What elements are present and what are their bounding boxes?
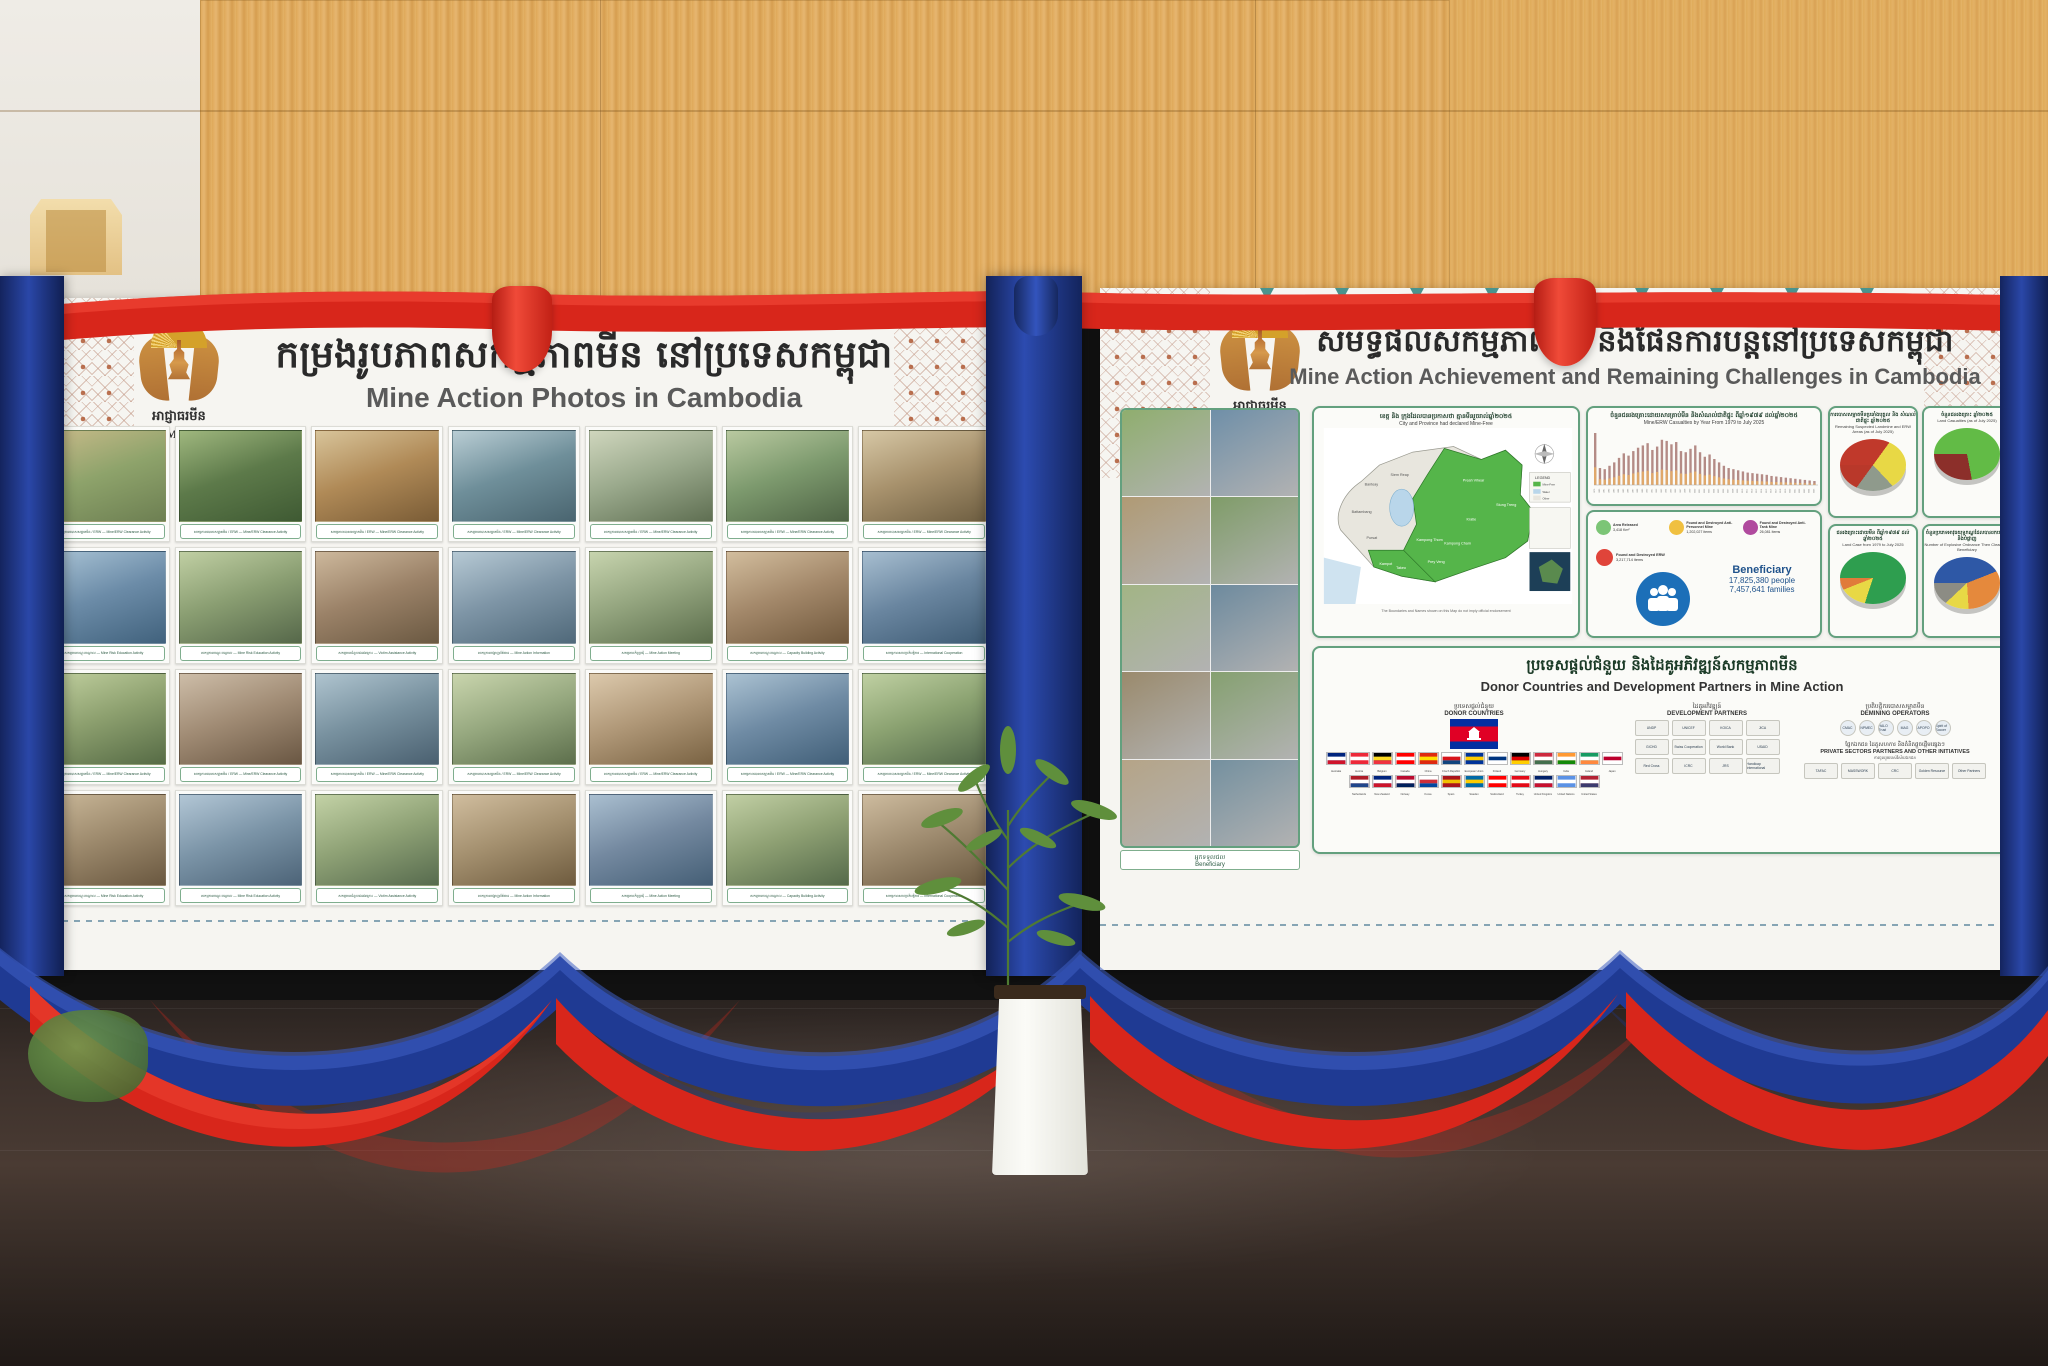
partner-logo-golden-resource[interactable]: Golden Resource [1915,763,1949,779]
photo-image [726,794,850,886]
pot-soil [994,985,1086,999]
photo-image [452,551,576,643]
svg-text:Siem Reap: Siem Reap [1391,473,1409,477]
photo-image [862,430,986,522]
donor-flag-india[interactable]: India [1556,752,1577,773]
donor-flag-united-states[interactable]: United States [1579,775,1600,796]
photo-caption: សកម្មភាពបោសសម្អាតមីន / ERW — Mine/ERW Cl… [863,524,985,539]
photo-card[interactable]: សកម្មភាពបោសសម្អាតមីន / ERW — Mine/ERW Cl… [311,426,443,542]
photo-image [179,673,303,765]
partner-logo-usaid[interactable]: USAID [1746,739,1780,755]
red-knot-left [492,286,552,372]
beneficiary-headline: Beneficiary [1706,564,1818,576]
svg-text:2005: 2005 [1718,488,1720,493]
photo-caption: សកម្មភាពបោសសម្អាតមីន / ERW — Mine/ERW Cl… [180,524,302,539]
casualty-title-khmer: ចំនួនជនរងគ្រោះដោយសារគ្រាប់មីន និងសំណល់ជា… [1588,412,1820,420]
photo-image [452,673,576,765]
wood-seam-horizontal [0,110,2048,112]
photo-image [726,430,850,522]
donor-title-english: Donor Countries and Development Partners… [1314,679,2010,694]
donor-flag-japan[interactable]: Japan [1602,752,1623,773]
photo-image [589,673,713,765]
collage-caption: អ្នកទទួលផល Beneficiary [1120,850,1300,870]
svg-text:2013: 2013 [1756,488,1758,493]
red-knot-right [1534,278,1596,366]
scallop [226,298,298,316]
collage-photo[interactable] [1211,672,1299,758]
photo-card[interactable]: សកម្មភាពកិច្ចប្រជុំ — Mine Action Meetin… [585,790,717,906]
right-banner: អាជ្ញាធរមីន C.M.A.A សមិទ្ធផលសកម្មភាពមីន … [1100,288,2034,970]
svg-text:2025: 2025 [1813,488,1815,493]
collage-photo[interactable] [1122,497,1210,583]
dev-partners-heading-english: DEVELOPMENT PARTNERS [1630,711,1784,717]
donor-flag-belgium[interactable]: Belgium [1372,752,1393,773]
achievement-stats-card: Area Released3,418 Km²Found and Destroye… [1586,510,1822,638]
wall-sconce-inner [46,210,106,272]
pie-1-title-khmer: ការបោសសម្អាតមីនប្រឆាំងបុគ្គល និង សំណល់ជា… [1830,412,1916,424]
photo-card[interactable]: សកម្មភាពបង្ហាញព័ត៌មាន — Mine Action Info… [448,547,580,663]
stat-at-mine-icon: Found and Destroyed Anti-Tank Mine26,081… [1743,520,1812,535]
donor-flag-czech-republic[interactable]: Czech Republic [1441,752,1462,773]
svg-text:1992: 1992 [1656,488,1658,493]
svg-text:1997: 1997 [1680,488,1682,493]
photo-caption: សកម្មភាពបោសសម្អាតមីន / ERW — Mine/ERW Cl… [453,524,575,539]
photo-card[interactable]: សកម្មភាពបណ្ដុះបណ្ដាល — Capacity Building… [722,547,854,663]
scallop [586,298,658,316]
donor-countries-heading-english: DONOR COUNTRIES [1324,711,1624,717]
blue-drape-far-right [2000,276,2048,976]
photo-caption: សកម្មភាពបង្ហាញព័ត៌មាន — Mine Action Info… [453,646,575,661]
plant-pot [992,985,1088,1175]
scallop [1305,288,1380,306]
donor-flag-united-nations[interactable]: United Nations [1556,775,1577,796]
left-banner-title-khmer: កម្រងរូបភាពសកម្មភាពមីន នៅប្រទេសកម្ពុជា [164,332,1004,386]
partner-logo-undp[interactable]: UNDP [1635,720,1669,736]
partner-logo-icrc[interactable]: ICRC [1672,758,1706,774]
donor-flag-germany[interactable]: Germany [1510,752,1531,773]
photo-card[interactable]: សកម្មភាពបណ្ដុះបណ្ដាល — Capacity Building… [722,790,854,906]
pie-chart-3 [1840,552,1906,604]
cambodia-flag-icon [1450,719,1498,749]
photo-image [726,551,850,643]
svg-text:Battambang: Battambang [1352,510,1372,514]
partner-logo-unicef[interactable]: UNICEF [1672,720,1706,736]
pie-4-title-khmer: ចំនួនប្រភេទអាវុធយុទ្ធភណ្ឌដែលបានរកឃើញ និង… [1924,530,2010,542]
partner-logo-tafac[interactable]: TAFAC [1804,763,1838,779]
svg-text:1994: 1994 [1666,488,1668,493]
svg-text:2002: 2002 [1704,488,1706,493]
svg-text:Kampot: Kampot [1379,562,1392,566]
demining-operators-group: ប្រតិបត្តិករបោសសម្អាតមីន DEMINING OPERAT… [1790,702,2000,779]
svg-text:1981: 1981 [1604,488,1606,493]
mine-free-map-card: ខេត្ត និង ក្រុងដែលបានប្រកាសថា គ្មានមីនរួ… [1312,406,1580,638]
bottom-pattern-row-right [1100,922,2034,956]
right-banner-title-english: Mine Action Achievement and Remaining Ch… [1250,364,2020,390]
pie-card-2: ចំនួនជនរងគ្រោះ ឆ្នាំ២០២៥ Land Casualties… [1922,406,2012,518]
svg-text:2007: 2007 [1728,488,1730,493]
svg-text:2017: 2017 [1775,488,1777,493]
photo-image [726,673,850,765]
photo-caption: សកម្មភាពបោសសម្អាតមីន / ERW — Mine/ERW Cl… [453,767,575,782]
left-banner-surface: អាជ្ញាធរមីន C.M.A.A កម្រងរូបភាពសកម្មភាពម… [14,298,1014,970]
donor-flag-hungary[interactable]: Hungary [1533,752,1554,773]
casualty-title-english: Mine/ERW Casualties by Year From 1979 to… [1588,420,1820,427]
svg-text:2023: 2023 [1804,488,1806,493]
photo-image [862,551,986,643]
photo-caption: សកម្មភាពបណ្ដុះបណ្ដាល — Capacity Building… [727,888,849,903]
photo-caption: សកម្មភាពកិច្ចប្រជុំ — Mine Action Meetin… [590,646,712,661]
pie-3-title-khmer: ជនរងគ្រោះដោយមីន ពីឆ្នាំ១៩៧៩ ដល់ឆ្នាំ២០២៥ [1830,530,1916,542]
cambodia-map: Preah VihearStung Treng KratieKampong Ch… [1314,428,1580,604]
photo-card[interactable]: សកម្មភាពបោសសម្អាតមីន / ERW — Mine/ERW Cl… [585,426,717,542]
donor-flag-switzerland[interactable]: Switzerland [1487,775,1508,796]
scallop [658,298,730,316]
svg-text:Mine-Free: Mine-Free [1542,482,1555,486]
donor-flag-netherlands[interactable]: Netherlands [1349,775,1370,796]
pie-2-title-english: Land Casualties (as of July 2025) [1924,418,2010,423]
svg-text:1982: 1982 [1608,488,1610,493]
svg-text:2004: 2004 [1713,488,1715,493]
photo-caption: សកម្មភាពបណ្ដុះបណ្ដាល — Mine Risk Educati… [180,888,302,903]
scallop [370,298,442,316]
dev-partners-heading-khmer: ដៃគូអភិវឌ្ឍន៍ [1630,702,1784,711]
casualty-chart-card: ចំនួនជនរងគ្រោះដោយសារគ្រាប់មីន និងសំណល់ជា… [1586,406,1822,506]
photo-card[interactable]: សកម្មភាពបោសសម្អាតមីន / ERW — Mine/ERW Cl… [448,426,580,542]
photo-card[interactable]: សកម្មភាពបណ្ដុះបណ្ដាល — Mine Risk Educati… [175,547,307,663]
pie-4-title-english: Number of Explosive Ordnance Then Cleara… [1924,542,2010,552]
photo-card[interactable]: សកម្មភាពបោសសម្អាតមីន / ERW — Mine/ERW Cl… [175,669,307,785]
donor-partners-card: ប្រទេសផ្ដល់ជំនួយ និងដៃគូអភិវឌ្ឍន៍សកម្មភា… [1312,646,2012,854]
donor-flag-ireland[interactable]: Ireland [1579,752,1600,773]
development-partners-group: ដៃគូអភិវឌ្ឍន៍ DEVELOPMENT PARTNERS UNDPU… [1630,702,1784,774]
svg-text:2022: 2022 [1799,488,1801,493]
svg-text:Prey Veng: Prey Veng [1428,560,1445,564]
photo-card[interactable]: សកម្មភាពបោសសម្អាតមីន / ERW — Mine/ERW Cl… [448,669,580,785]
photo-image [179,430,303,522]
svg-text:Kampong Thom: Kampong Thom [1417,538,1443,542]
svg-text:1993: 1993 [1661,488,1663,493]
svg-text:2018: 2018 [1780,488,1782,493]
pie-chart-2 [1934,428,2000,480]
donor-countries-group: ប្រទេសផ្ដល់ជំនួយ DONOR COUNTRIES Austral… [1324,702,1624,796]
svg-text:1979: 1979 [1594,488,1596,493]
collage-caption-khmer: អ្នកទទួលផល [1195,853,1225,862]
svg-text:Kratie: Kratie [1467,518,1477,522]
beneficiary-people: 17,825,380 people [1706,576,1818,585]
pattern-dash-line [1100,924,2034,926]
photo-caption: សកម្មភាពបោសសម្អាតមីន / ERW — Mine/ERW Cl… [590,767,712,782]
photo-image [452,794,576,886]
pie-1-title-english: Remaining Suspected Landmine and ERW Are… [1830,424,1916,434]
photo-image [589,551,713,643]
svg-text:2016: 2016 [1771,488,1773,493]
map-legend: LEGEND Mine-Free Water Other [1530,472,1571,502]
photo-caption: សកម្មភាពបោសសម្អាតមីន / ERW — Mine/ERW Cl… [316,767,438,782]
collage-caption-english: Beneficiary [1195,862,1225,868]
scallop [1679,288,1754,306]
svg-text:Water: Water [1542,490,1549,494]
partner-logo-world-bank[interactable]: World Bank [1709,739,1743,755]
donor-flag-norway[interactable]: Norway [1395,775,1416,796]
svg-text:2019: 2019 [1785,488,1787,493]
photo-card[interactable]: សកម្មភាពបង្ហាញព័ត៌មាន — Mine Action Info… [448,790,580,906]
scallop [298,298,370,316]
host-flag-wrap [1324,719,1624,749]
partner-logo-apopo[interactable]: APOPO [1916,720,1932,736]
photo-caption: សកម្មភាពបោសសម្អាតមីន / ERW — Mine/ERW Cl… [180,767,302,782]
svg-text:2008: 2008 [1732,488,1734,493]
photo-image [589,430,713,522]
svg-text:2003: 2003 [1709,488,1711,493]
donor-flag-china[interactable]: China [1418,752,1439,773]
photo-caption: សកម្មភាពបង្ហាញព័ត៌មាន — Mine Action Info… [453,888,575,903]
donor-flag-finland[interactable]: Finland [1487,752,1508,773]
partner-logo-handicap-international[interactable]: Handicap International [1746,758,1780,774]
svg-text:2001: 2001 [1699,488,1701,493]
pie-card-1: ការបោសសម្អាតមីនប្រឆាំងបុគ្គល និង សំណល់ជា… [1828,406,1918,518]
pie-chart-1 [1840,439,1906,491]
partner-logo-swiss-cooperation[interactable]: Swiss Cooperation [1672,739,1706,755]
operators-heading-english: DEMINING OPERATORS [1790,711,2000,717]
partner-logo-cmac[interactable]: CMAC [1840,720,1856,736]
svg-text:1985: 1985 [1623,488,1625,493]
svg-text:1987: 1987 [1632,488,1634,493]
svg-text:1986: 1986 [1628,488,1630,493]
donor-flag-turkey[interactable]: Turkey [1510,775,1531,796]
donor-title-khmer: ប្រទេសផ្ដល់ជំនួយ និងដៃគូអភិវឌ្ឍន៍សកម្មភា… [1314,656,2010,678]
svg-text:1996: 1996 [1675,488,1677,493]
partner-logo-mag[interactable]: MAG [1897,720,1913,736]
foliage-left [28,1010,148,1102]
donor-flag-austria[interactable]: Austria [1349,752,1370,773]
pie-card-4: ចំនួនប្រភេទអាវុធយុទ្ធភណ្ឌដែលបានរកឃើញ និង… [1922,524,2012,638]
pie-card-3: ជនរងគ្រោះដោយមីន ពីឆ្នាំ១៩៧៩ ដល់ឆ្នាំ២០២៥… [1828,524,1918,638]
svg-text:1989: 1989 [1642,488,1644,493]
partner-logo-gichd[interactable]: GICHD [1635,739,1669,755]
partner-logo-jica[interactable]: JICA [1746,720,1780,736]
pattern-dash-line [14,920,1014,922]
photo-card[interactable]: សកម្មភាពបោសសម្អាតមីន / ERW — Mine/ERW Cl… [858,426,990,542]
photo-image [179,794,303,886]
partner-logo-jrs[interactable]: JRS [1709,758,1743,774]
photo-card[interactable]: សកម្មភាពសហប្រតិបត្តិការ — International … [858,547,990,663]
collage-photo[interactable] [1211,760,1299,846]
scallop [802,298,874,316]
partner-logo-red-cross[interactable]: Red Cross [1635,758,1669,774]
scallop [1754,288,1829,306]
svg-text:1995: 1995 [1670,488,1672,493]
wall-background [0,0,2048,300]
photo-image [315,794,439,886]
scallop [730,298,802,316]
photo-card[interactable]: សកម្មភាពកិច្ចប្រជុំ — Mine Action Meetin… [585,547,717,663]
donor-flag-australia[interactable]: Australia [1326,752,1347,773]
scallop [154,298,226,316]
wood-panel-center [200,0,1450,300]
svg-text:1990: 1990 [1647,488,1649,493]
donor-flag-united-kingdom[interactable]: United Kingdom [1533,775,1554,796]
photo-image [315,673,439,765]
partner-logo-crc[interactable]: CRC [1878,763,1912,779]
photo-caption: សកម្មភាពបណ្ដុះបណ្ដាល — Mine Risk Educati… [180,646,302,661]
photo-card[interactable]: សកម្មភាពបោសសម្អាតមីន / ERW — Mine/ERW Cl… [722,669,854,785]
photo-caption: សកម្មភាពសហប្រតិបត្តិការ — International … [863,646,985,661]
scallop [1455,288,1530,306]
map-title-english: City and Province had declared Mine-Free [1314,421,1578,428]
collage-photo[interactable] [1122,585,1210,671]
svg-text:1983: 1983 [1613,488,1615,493]
svg-text:2000: 2000 [1694,488,1696,493]
svg-text:2014: 2014 [1761,488,1763,493]
svg-text:2011: 2011 [1747,488,1749,493]
beneficiary-families: 7,457,641 families [1706,585,1818,594]
scallop [1380,288,1455,306]
donor-flag-sweden[interactable]: Sweden [1464,775,1485,796]
bottom-pattern-row [14,918,1014,952]
left-banner-title-english: Mine Action Photos in Cambodia [164,382,1004,414]
stat-erw-icon: Found and Destroyed ERW3,217,714 items [1596,549,1706,566]
wood-seam-2 [1255,0,1256,300]
pie-3-title-english: Land Case from 1979 to July 2025 [1830,542,1916,547]
pie-chart-4 [1934,557,2000,609]
photo-caption: សកម្មភាពកិច្ចប្រជុំ — Mine Action Meetin… [590,888,712,903]
map-footnote: The Boundaries and Names shown on this M… [1314,609,1578,613]
svg-text:2012: 2012 [1751,488,1753,493]
svg-text:1984: 1984 [1618,488,1620,493]
private-sub-khmer: ការចូលរួមរបស់វិស័យឯកជន [1790,755,2000,761]
photo-image [315,551,439,643]
photo-caption: សកម្មភាពបណ្ដុះបណ្ដាល — Capacity Building… [727,646,849,661]
donor-flag-new-zealand[interactable]: New Zealand [1372,775,1393,796]
operators-heading-khmer: ប្រតិបត្តិករបោសសម្អាតមីន [1790,702,2000,711]
donor-countries-heading-khmer: ប្រទេសផ្ដល់ជំនួយ [1324,702,1624,711]
photo-card[interactable]: សកម្មភាពបោសសម្អាតមីន / ERW — Mine/ERW Cl… [585,669,717,785]
svg-text:2010: 2010 [1742,488,1744,493]
photo-image [589,794,713,886]
svg-text:1991: 1991 [1651,488,1653,493]
photo-card[interactable]: សកម្មភាពបោសសម្អាតមីន / ERW — Mine/ERW Cl… [311,669,443,785]
donor-flag-european-union[interactable]: European Union [1464,752,1485,773]
svg-text:1999: 1999 [1690,488,1692,493]
photo-image [315,430,439,522]
wood-seam-1 [600,0,601,300]
photo-caption: សកម្មភាពបោសសម្អាតមីន / ERW — Mine/ERW Cl… [727,524,849,539]
collage-photo[interactable] [1211,497,1299,583]
svg-text:Banteay: Banteay [1365,482,1379,486]
scene-root: អាជ្ញាធរមីន C.M.A.A កម្រងរូបភាពសកម្មភាពម… [0,0,2048,1366]
donor-flag-korea[interactable]: Korea [1418,775,1439,796]
photo-card[interactable]: សកម្មភាពបោសសម្អាតមីន / ERW — Mine/ERW Cl… [175,426,307,542]
svg-text:2024: 2024 [1809,488,1811,493]
map-title-khmer: ខេត្ត និង ក្រុងដែលបានប្រកាសថា គ្មានមីនរួ… [1314,413,1578,421]
photo-caption: សកម្មភាពបោសសម្អាតមីន / ERW — Mine/ERW Cl… [316,524,438,539]
photo-caption: សកម្មភាពជំនួយជនរងគ្រោះ — Victim Assistan… [316,888,438,903]
photo-card[interactable]: សកម្មភាពបណ្ដុះបណ្ដាល — Mine Risk Educati… [175,790,307,906]
partner-logo-npmec[interactable]: NPMEC [1859,720,1875,736]
stat-ap-mine-icon: Found and Destroyed Anti-Personnel Mine1… [1669,520,1738,535]
scallop [1230,288,1305,306]
collage-photo[interactable] [1211,410,1299,496]
donor-flag-canada[interactable]: Canada [1395,752,1416,773]
svg-text:Kampong Cham: Kampong Cham [1444,542,1471,546]
private-heading-khmer: ផ្នែកឯកជន ដៃគូសហការ និងគំនិតផ្ដួចផ្ដើមផ្… [1790,741,2000,749]
partner-logo-koica[interactable]: KOICA [1709,720,1743,736]
beneficiary-block: Beneficiary 17,825,380 people 7,457,641 … [1706,564,1818,594]
collage-photo[interactable] [1211,585,1299,671]
donor-flag-spain[interactable]: Spain [1441,775,1462,796]
collage-photo[interactable] [1122,410,1210,496]
beneficiary-icon [1636,572,1690,626]
svg-text:Takeo: Takeo [1396,566,1406,570]
partner-logo-masswork[interactable]: MASSWORK [1841,763,1875,779]
svg-text:1988: 1988 [1637,488,1639,493]
photo-card[interactable]: សកម្មភាពជំនួយជនរងគ្រោះ — Victim Assistan… [311,547,443,663]
partner-logo-halo-trust[interactable]: HALO Trust [1878,720,1894,736]
casualty-bar-chart: 1979198019811982198319841985198619871988… [1588,429,1822,493]
svg-text:2009: 2009 [1737,488,1739,493]
photo-caption: សកម្មភាពជំនួយជនរងគ្រោះ — Victim Assistan… [316,646,438,661]
svg-text:2006: 2006 [1723,488,1725,493]
partner-logo-other-partners[interactable]: Other Partners [1952,763,1986,779]
svg-text:1998: 1998 [1685,488,1687,493]
svg-text:LEGEND: LEGEND [1535,476,1551,480]
photo-image [452,430,576,522]
blue-drape-far-left [0,276,64,976]
potted-plant-foliage [880,690,1140,1020]
scallop [1604,288,1679,306]
svg-text:Pursat: Pursat [1366,536,1377,540]
svg-text:1980: 1980 [1599,488,1601,493]
scallop [1829,288,1904,306]
photo-caption: សកម្មភាពបោសសម្អាតមីន / ERW — Mine/ERW Cl… [590,524,712,539]
left-banner: អាជ្ញាធរមីន C.M.A.A កម្រងរូបភាពសកម្មភាពម… [14,298,1014,970]
photo-caption: សកម្មភាពបោសសម្អាតមីន / ERW — Mine/ERW Cl… [727,767,849,782]
blue-knot-center [1014,276,1058,336]
svg-text:2020: 2020 [1790,488,1792,493]
svg-text:2015: 2015 [1766,488,1768,493]
photo-card[interactable]: សកម្មភាពបោសសម្អាតមីន / ERW — Mine/ERW Cl… [722,426,854,542]
photo-card[interactable]: សកម្មភាពជំនួយជនរងគ្រោះ — Victim Assistan… [311,790,443,906]
right-banner-surface: អាជ្ញាធរមីន C.M.A.A សមិទ្ធផលសកម្មភាពមីន … [1100,288,2034,970]
beneficiary-photo-collage [1120,408,1300,848]
right-banner-title-khmer: សមិទ្ធផលសកម្មភាពមីន និងផែនការបន្តនៅប្រទេ… [1250,322,2020,366]
photo-image [179,551,303,643]
svg-text:Preah Vihear: Preah Vihear [1463,479,1485,483]
partner-logo-spirit-of-soccer[interactable]: Spirit of Soccer [1935,720,1951,736]
stat-area-icon: Area Released3,418 Km² [1596,520,1665,535]
svg-text:Stung Treng: Stung Treng [1496,503,1516,507]
svg-text:2021: 2021 [1794,488,1796,493]
stats-icon-row: Area Released3,418 Km²Found and Destroye… [1588,512,1820,566]
svg-text:Other: Other [1542,496,1549,500]
photo-grid: សកម្មភាពបោសសម្អាតមីន / ERW — Mine/ERW Cl… [38,426,990,906]
